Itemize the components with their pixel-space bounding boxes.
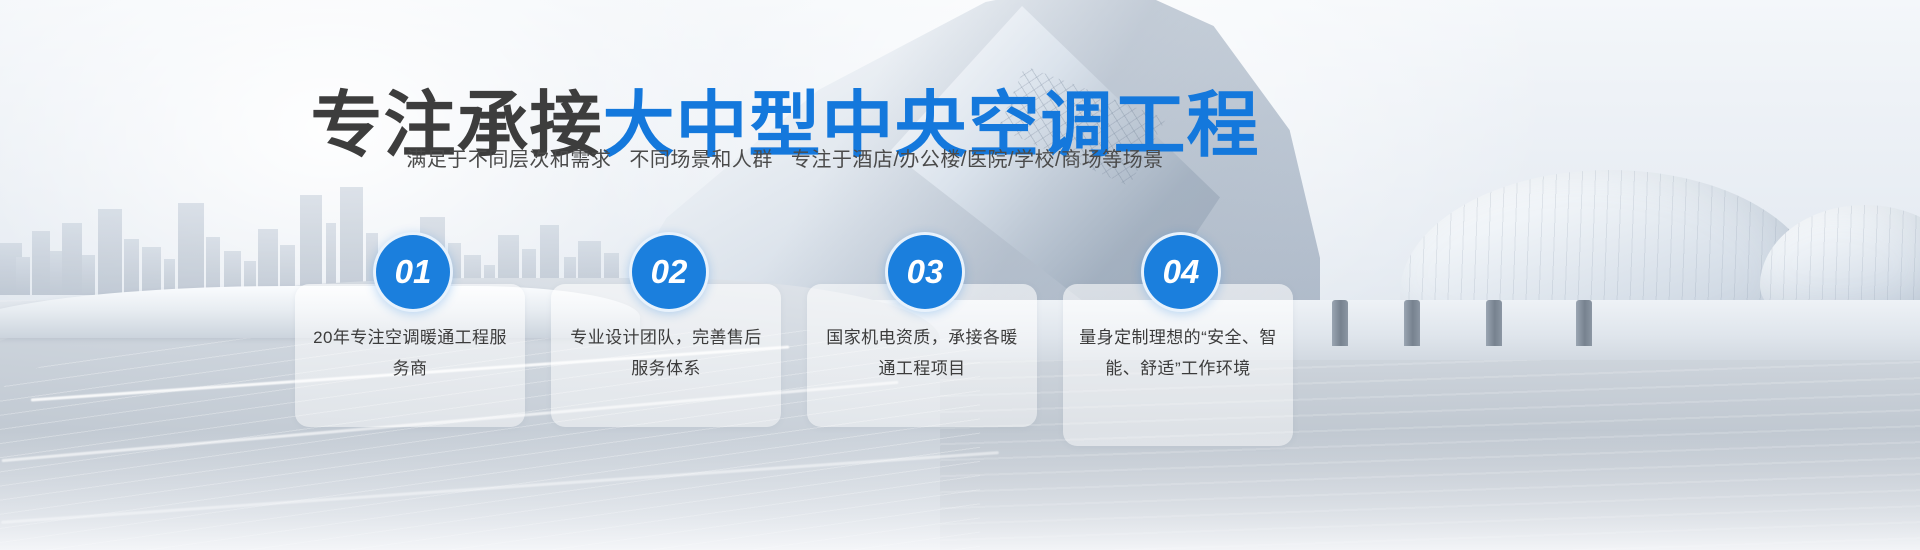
- banner-subtitle: 满足于不同层次和需求不同场景和人群专注于酒店/办公楼/医院/学校/商场等场景: [0, 143, 1570, 172]
- subtitle-segment-2: 不同场景和人群: [629, 149, 773, 171]
- feature-card[interactable]: 04 量身定制理想的“安全、智能、舒适”工作环境: [1063, 284, 1293, 446]
- feature-card[interactable]: 01 20年专注空调暖通工程服务商: [295, 284, 525, 427]
- feature-card-text: 国家机电资质，承接各暖通工程项目: [823, 322, 1021, 384]
- subtitle-segment-1: 满足于不同层次和需求: [406, 149, 611, 171]
- feature-card[interactable]: 02 专业设计团队，完善售后服务体系: [551, 284, 781, 427]
- feature-card-text: 量身定制理想的“安全、智能、舒适”工作环境: [1079, 322, 1277, 384]
- feature-card-list: 01 20年专注空调暖通工程服务商 02 专业设计团队，完善售后服务体系 03 …: [295, 222, 1295, 422]
- feature-card-badge: 03: [885, 232, 965, 312]
- feature-card-badge: 02: [629, 232, 709, 312]
- feature-card-text: 专业设计团队，完善售后服务体系: [567, 322, 765, 384]
- feature-card[interactable]: 03 国家机电资质，承接各暖通工程项目: [807, 284, 1037, 427]
- hero-banner: 专注承接大中型中央空调工程 满足于不同层次和需求不同场景和人群专注于酒店/办公楼…: [0, 0, 1920, 550]
- feature-card-badge: 01: [373, 232, 453, 312]
- feature-card-badge: 04: [1141, 232, 1221, 312]
- banner-content: 专注承接大中型中央空调工程 满足于不同层次和需求不同场景和人群专注于酒店/办公楼…: [0, 0, 1920, 550]
- subtitle-segment-3: 专注于酒店/办公楼/医院/学校/商场等场景: [791, 149, 1164, 171]
- feature-card-text: 20年专注空调暖通工程服务商: [311, 322, 509, 384]
